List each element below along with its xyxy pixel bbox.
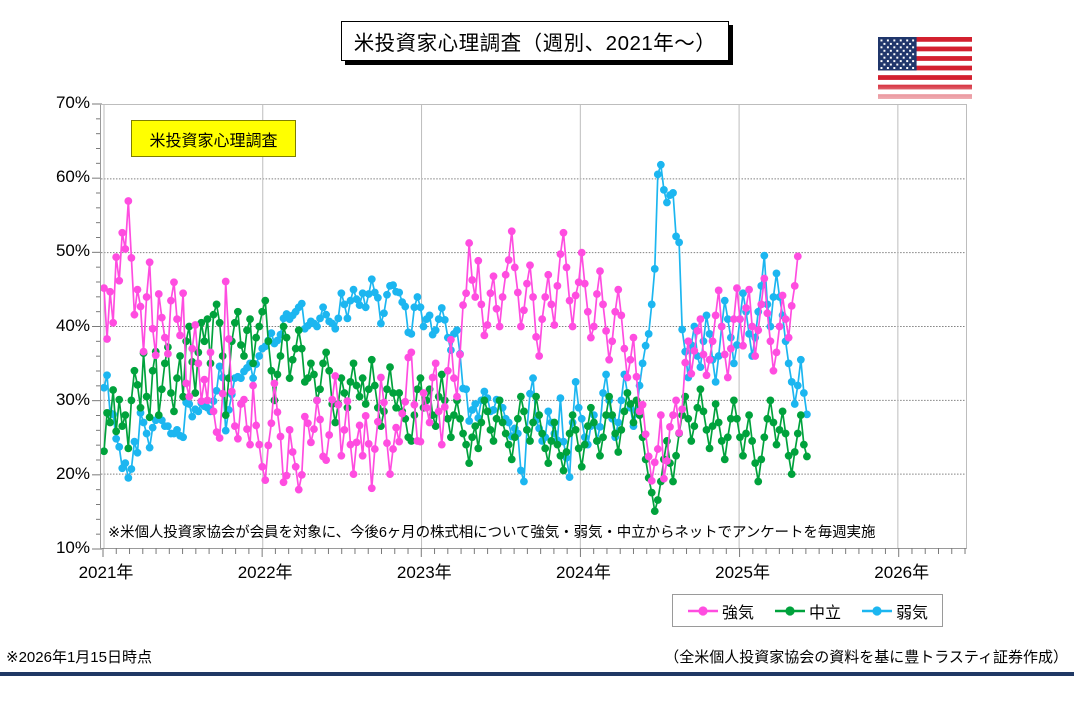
- y-axis-tick-label: 20%: [56, 464, 90, 484]
- legend-label: 中立: [809, 599, 841, 623]
- legend-label: 強気: [722, 599, 754, 623]
- legend-item[interactable]: 中立: [774, 599, 841, 623]
- footer-source-text: （全米個人投資家協会の資料を基に豊トラスティ証券作成）: [664, 646, 1068, 667]
- x-axis-tick-label: 2024年: [556, 558, 611, 583]
- chart-plot-area: [100, 104, 967, 549]
- legend-marker-icon: [774, 604, 806, 618]
- legend-marker-icon: [861, 604, 893, 618]
- x-axis-ticks: [100, 548, 968, 558]
- footer-divider: [0, 672, 1074, 676]
- legend-item[interactable]: 弱気: [861, 599, 928, 623]
- x-axis-tick-label: 2021年: [79, 558, 134, 583]
- x-axis-tick-label: 2023年: [397, 558, 452, 583]
- y-axis-tick-label: 50%: [56, 241, 90, 261]
- legend-item[interactable]: 強気: [687, 599, 754, 623]
- us-flag-graphic: [878, 37, 972, 99]
- x-axis-tick-label: 2026年: [874, 558, 929, 583]
- y-axis-tick-label: 30%: [56, 390, 90, 410]
- y-axis-tick-label: 70%: [56, 93, 90, 113]
- legend-marker-icon: [687, 604, 719, 618]
- y-axis-tick-label: 40%: [56, 316, 90, 336]
- x-axis-labels: 2021年2022年2023年2024年2025年2026年: [0, 558, 1074, 588]
- x-axis-tick-label: 2025年: [715, 558, 770, 583]
- y-axis-tick-label: 10%: [56, 538, 90, 558]
- chart-title-box: 米投資家心理調査（週別、2021年〜）: [341, 21, 729, 61]
- annotation-badge-label: 米投資家心理調査: [149, 127, 277, 151]
- y-axis-tick-label: 60%: [56, 167, 90, 187]
- chart-legend: 強気中立弱気: [672, 594, 943, 627]
- x-axis-tick-label: 2022年: [238, 558, 293, 583]
- y-axis-labels: 70%60%50%40%30%20%10%: [0, 0, 100, 707]
- chart-footnote: ※米個人投資家協会が会員を対象に、今後6ヶ月の株式相について強気・弱気・中立から…: [108, 521, 875, 542]
- legend-label: 弱気: [896, 599, 928, 623]
- chart-series-canvas: [101, 105, 966, 548]
- annotation-badge: 米投資家心理調査: [131, 120, 296, 157]
- footer-asof-text: ※2026年1月15日時点: [6, 646, 152, 667]
- page-title: 米投資家心理調査（週別、2021年〜）: [354, 26, 717, 56]
